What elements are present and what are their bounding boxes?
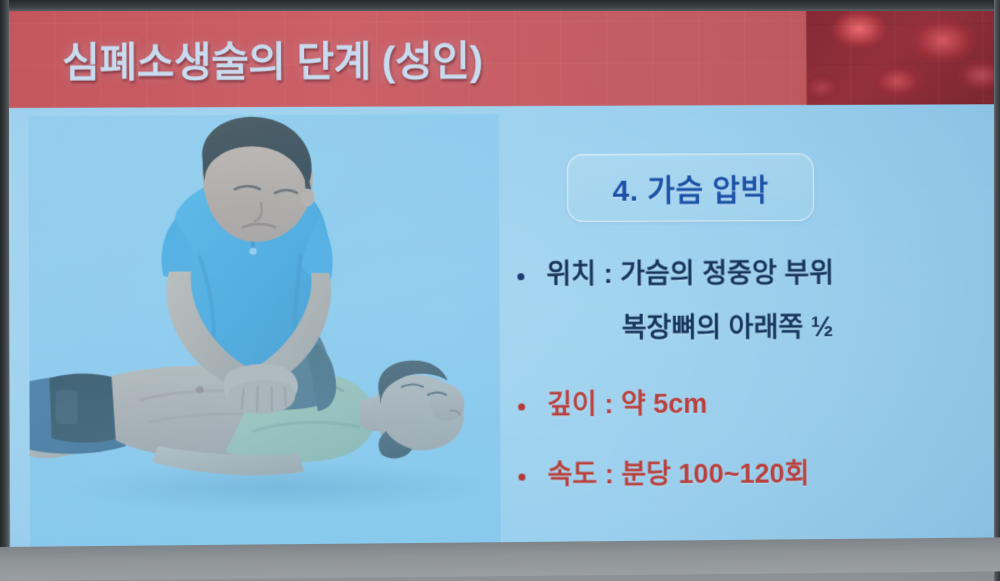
screen-right-edge xyxy=(994,0,1000,581)
bullet-item-rate: 속도 : 분당 100~120회 xyxy=(518,457,809,492)
step-heading-box: 4. 가슴 압박 xyxy=(567,153,815,222)
page-title: 심폐소생술의 단계 (성인) xyxy=(62,27,483,89)
bullet-item-depth: 깊이 : 약 5cm xyxy=(518,388,707,423)
presentation-slide: 심폐소생술의 단계 (성인) xyxy=(8,7,1000,555)
bullet-dot-icon xyxy=(518,474,525,481)
bullet-dot-icon xyxy=(518,403,525,410)
bullet-rate-label: 속도 : 분당 100~120회 xyxy=(547,457,809,492)
bullet-position-line1: 위치 : 가슴의 정중앙 부위 xyxy=(546,257,834,292)
screen-top-edge xyxy=(0,0,1000,11)
bullet-item-position: 위치 : 가슴의 정중앙 부위 xyxy=(517,257,834,292)
bullet-dot-icon xyxy=(517,273,524,280)
slide-body: 4. 가슴 압박 위치 : 가슴의 정중앙 부위 복장뼈의 아래쪽 ½ 깊이 :… xyxy=(8,104,999,555)
projected-slide-photo: 심폐소생술의 단계 (성인) xyxy=(0,0,1000,581)
step-heading-label: 4. 가슴 압박 xyxy=(612,165,768,210)
bullet-position-line2: 복장뼈의 아래쪽 ½ xyxy=(622,305,834,345)
bullet-depth-label: 깊이 : 약 5cm xyxy=(547,388,707,422)
chest-compression-illustration xyxy=(28,114,500,547)
slide-content-column: 4. 가슴 압박 위치 : 가슴의 정중앙 부위 복장뼈의 아래쪽 ½ 깊이 :… xyxy=(502,104,999,553)
slide-title-banner: 심폐소생술의 단계 (성인) xyxy=(8,7,997,108)
screen-left-edge xyxy=(0,0,9,581)
red-blood-cells-image xyxy=(806,7,997,105)
